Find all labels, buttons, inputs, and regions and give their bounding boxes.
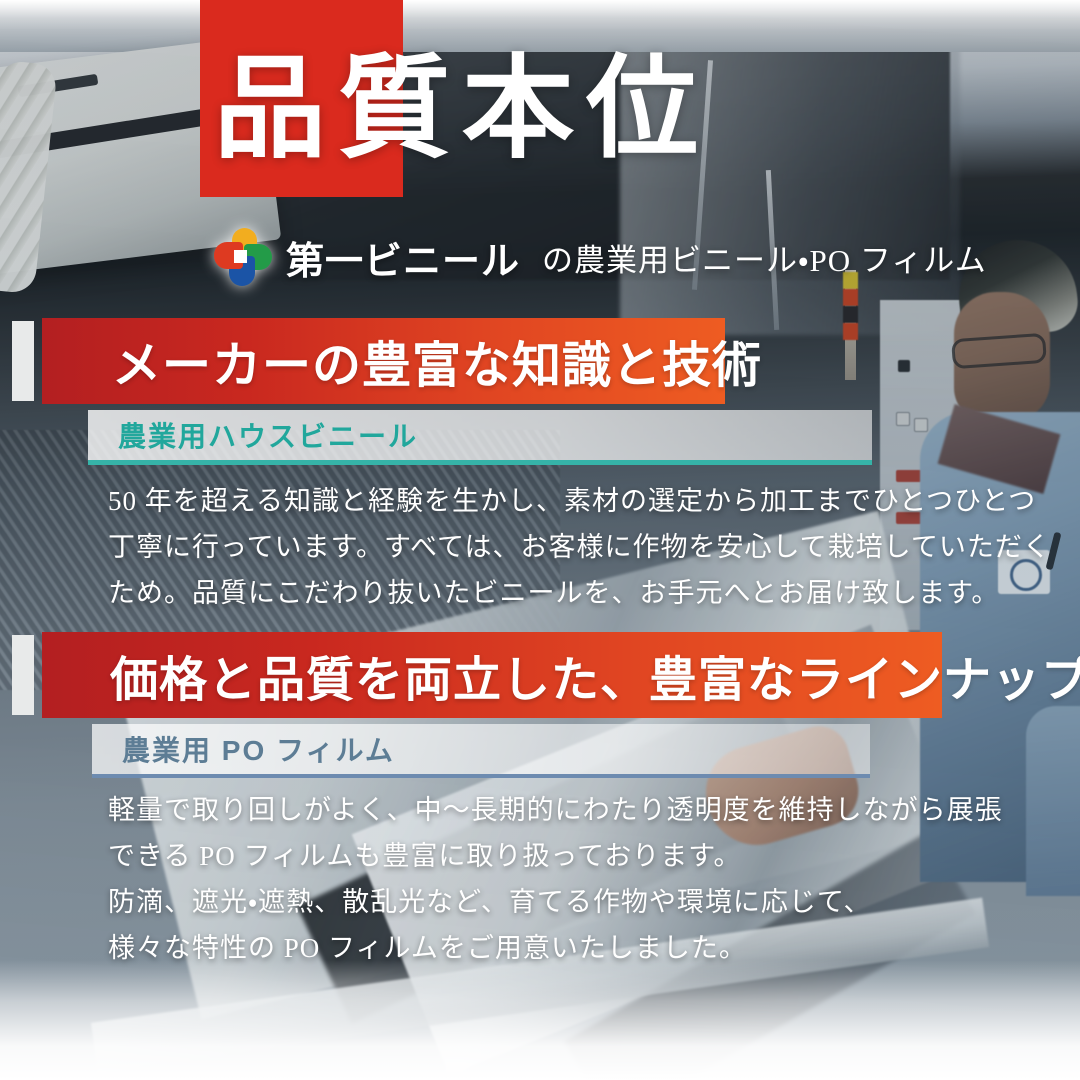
section-body-copy: 軽量で取り回しがよく、中～長期的にわたり透明度を維持しながら展張 できる PO …	[108, 787, 988, 971]
body-line: 防滴、遮光・遮熱、散乱光など、育てる作物や環境に応じて、	[108, 879, 988, 925]
brand-name: 第一ビニール	[286, 230, 520, 285]
section-subheading-plate: 農業用 PO フィルム	[92, 724, 870, 778]
body-line: できる PO フィルムも豊富に取り扱っております。	[108, 833, 988, 879]
section-subheading-plate: 農業用ハウスビニール	[88, 410, 872, 465]
section-body-copy: 50 年を超える知識と経験を生かし、素材の選定から加工までひとつひとつ 丁寧に行…	[108, 478, 988, 616]
section-ribbon: 価格と品質を両立した、豊富なラインナップ	[42, 632, 942, 718]
body-line: 50 年を超える知識と経験を生かし、素材の選定から加工までひとつひとつ	[108, 478, 988, 524]
section-subheading-label: 農業用ハウスビニール	[118, 415, 418, 455]
brand-tagline: の農業用ビニール・PO フィルム	[542, 235, 987, 280]
section-ribbon-label: 価格と品質を両立した、豊富なラインナップ	[110, 640, 1080, 710]
brand-row: 第一ビニール の農業用ビニール・PO フィルム	[214, 228, 987, 286]
section-ribbon-label: メーカーの豊富な知識と技術	[112, 326, 762, 397]
hero-title: 品質本位	[214, 54, 710, 166]
ribbon-left-tab	[12, 321, 34, 401]
banner-content: 品質本位 第一ビニール の農業用ビニール・PO フィルム メーカーの豊富な知識と…	[0, 0, 1080, 1080]
body-line: 丁寧に行っています。すべては、お客様に作物を安心して栽培していただく	[108, 524, 988, 570]
daiichi-vinyl-pinwheel-logo-icon	[214, 228, 272, 286]
body-line: ため。品質にこだわり抜いたビニールを、お手元へとお届け致します。	[108, 570, 988, 616]
section-subheading-label: 農業用 PO フィルム	[122, 729, 395, 769]
logo-center-notch-icon	[234, 250, 247, 263]
body-line: 様々な特性の PO フィルムをご用意いたしました。	[108, 925, 988, 971]
body-line: 軽量で取り回しがよく、中～長期的にわたり透明度を維持しながら展張	[108, 787, 988, 833]
section-ribbon: メーカーの豊富な知識と技術	[42, 318, 725, 404]
ribbon-left-tab	[12, 635, 34, 715]
promo-banner: 品質本位 第一ビニール の農業用ビニール・PO フィルム メーカーの豊富な知識と…	[0, 0, 1080, 1080]
